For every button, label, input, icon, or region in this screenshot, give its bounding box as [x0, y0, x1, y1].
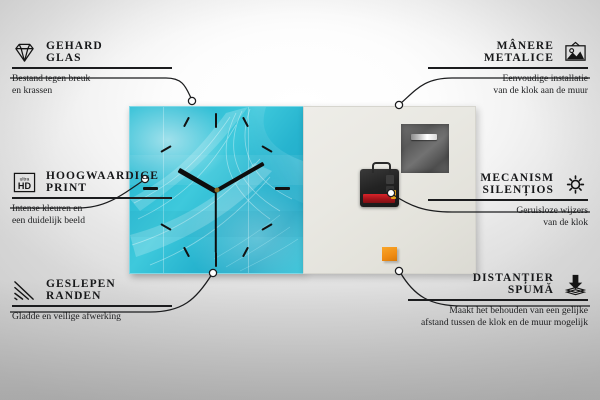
- feature-title-line2: METALICE: [484, 52, 554, 64]
- feature-rule: [428, 67, 588, 68]
- feature-title-line2: GLAS: [46, 52, 103, 64]
- hanger-slot: [411, 134, 437, 140]
- feature-title-line1: MÂNERE: [484, 40, 554, 52]
- feature-title-line1: HOOGWAARDIGE: [46, 170, 159, 182]
- feature-description: Geruisloze wijzers van de klok: [428, 205, 588, 230]
- feature-rule: [12, 305, 172, 306]
- feature-hoogwaardige-print: ultra HD HOOGWAARDIGE PRINT Intense kleu…: [12, 170, 172, 227]
- svg-text:HD: HD: [18, 181, 32, 191]
- clock-tick-12: [215, 113, 217, 128]
- feature-description: Gladde en veilige afwerking: [12, 311, 172, 323]
- clock-center-pin: [214, 188, 219, 193]
- feature-gehard-glas: GEHARD GLAS Bestand tegen breuk en krass…: [12, 40, 172, 97]
- clock-second-hand: [215, 190, 217, 252]
- feature-title-line2: SILENȚIOS: [480, 184, 554, 196]
- feature-rule: [408, 299, 588, 300]
- feature-description: Eenvoudige installatie van de klok aan d…: [428, 73, 588, 98]
- feature-rule: [12, 67, 172, 68]
- feature-mecanism-silentios: MECANISM SILENȚIOS Geruisloze wijzers va…: [428, 172, 588, 229]
- clock-tick-6: [215, 252, 217, 267]
- feature-geslepen-randen: GESLEPEN RANDEN Gladde en veilige afwerk…: [12, 278, 172, 323]
- feature-title-line2: PRINT: [46, 182, 159, 194]
- feature-title-line2: RANDEN: [46, 290, 116, 302]
- gear-icon: [563, 173, 588, 196]
- ultra-hd-icon: ultra HD: [12, 171, 37, 194]
- feature-manere-metalice: MÂNERE METALICE Eenvoudige installatie v…: [428, 40, 588, 97]
- feature-description: Bestand tegen breuk en krassen: [12, 73, 172, 98]
- feature-title-line1: MECANISM: [480, 172, 554, 184]
- feature-description: Intense kleuren en een duidelijk beeld: [12, 203, 172, 228]
- down-arrow-pad-icon: [563, 273, 588, 296]
- battery: [363, 194, 395, 203]
- infographic-canvas: GEHARD GLAS Bestand tegen breuk en krass…: [0, 0, 600, 400]
- feature-title-line2: SPUMĂ: [473, 284, 554, 296]
- feature-title-line1: GEHARD: [46, 40, 103, 52]
- feature-rule: [12, 197, 172, 198]
- metal-hanger-plate: [401, 124, 449, 173]
- diamond-icon: [12, 41, 37, 64]
- feature-title-line1: GESLEPEN: [46, 278, 116, 290]
- beveled-edge-icon: [12, 279, 37, 302]
- feature-description: Maakt het behouden van een gelijke afsta…: [408, 305, 588, 330]
- clock-tick-3: [275, 187, 290, 190]
- feature-rule: [428, 199, 588, 200]
- wall-mount-picture-icon: [563, 41, 588, 64]
- foam-spacer: [382, 247, 397, 261]
- movement-dial-upper: [386, 175, 394, 184]
- quartz-movement: [360, 169, 399, 207]
- battery-positive-terminal: [391, 190, 396, 199]
- movement-hanging-loop: [372, 162, 391, 173]
- feature-distantier-spuma: DISTANȚIER SPUMĂ Maakt het behouden van …: [408, 272, 588, 329]
- feature-title-line1: DISTANȚIER: [473, 272, 554, 284]
